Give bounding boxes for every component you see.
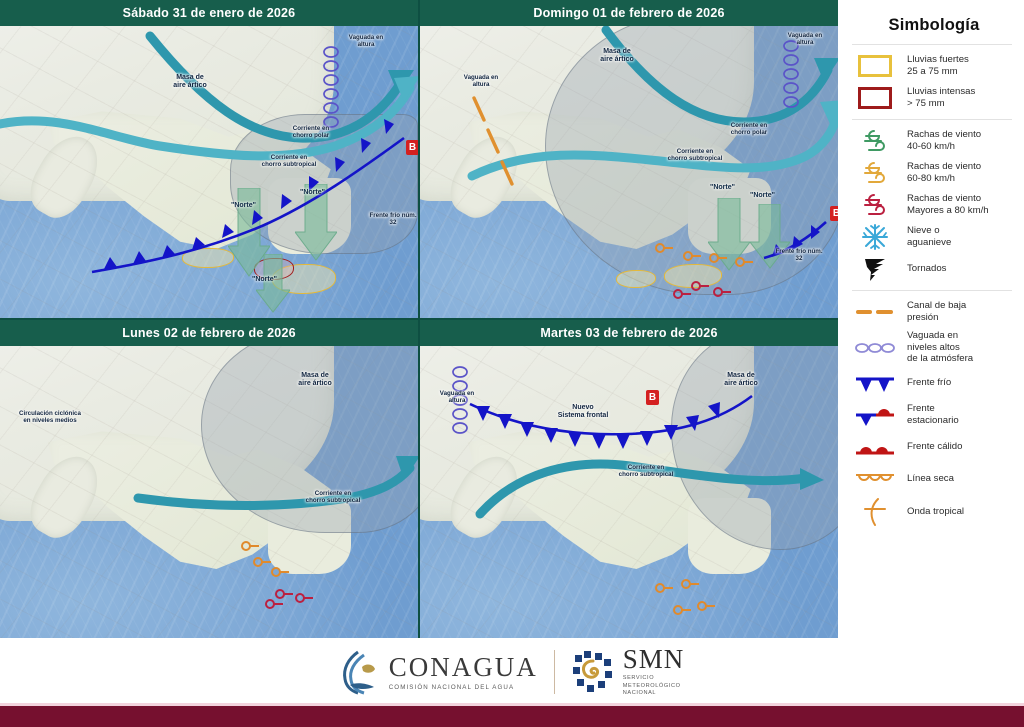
map-panel-domingo[interactable]: Domingo 01 de febrero de 2026 [420,0,838,318]
label-norte-1: "Norte" [710,184,735,191]
label-norte-2: "Norte" [750,192,775,199]
legend-item-rachas-40-60[interactable]: Rachas de viento 40-60 km/h [852,125,1016,157]
label-airmass: Masa de aire ártico [706,372,776,388]
label-vaguada: Vaguada en altura [426,390,488,404]
label-jet-polar: Corriente en chorro polar [277,125,345,139]
legend-divider-3 [852,290,1012,291]
label-jet-subtropical: Corriente en chorro subtropical [660,148,730,162]
dry-line-icon [852,471,898,487]
label-norte-1: "Norte" [231,202,256,209]
legend-panel: Simbología Lluvias fuertes 25 a 75 mm Ll… [840,0,1024,638]
low-pressure-marker: B [406,140,418,155]
footer-logos: CONAGUA COMISIÓN NACIONAL DEL AGUA SMN S… [0,638,1024,706]
bottom-brand-bar [0,706,1024,727]
wind-gust-markers [232,536,342,616]
panel-title-domingo: Domingo 01 de febrero de 2026 [420,0,838,26]
legend-divider-2 [852,119,1012,120]
legend-item-lluvias-fuertes[interactable]: Lluvias fuertes 25 a 75 mm [852,50,1016,82]
low-pressure-marker: B [830,206,838,221]
label-jet-subtropical: Corriente en chorro subtropical [296,490,370,504]
legend-item-linea-seca[interactable]: Línea seca [852,463,1016,495]
label-jet-polar: Corriente en chorro polar [714,122,784,136]
legend-item-frente-frio[interactable]: Frente frío [852,367,1016,399]
legend-label: Onda tropical [907,506,964,518]
legend-item-vaguada-niveles-altos[interactable]: Vaguada en niveles altos de la atmósfera [852,328,1016,367]
legend-item-frente-calido[interactable]: Frente cálido [852,431,1016,463]
label-vaguada: Vaguada en altura [333,34,399,48]
label-new-frontal-system: Nuevo Sistema frontal [538,404,628,420]
cold-front-domingo [420,26,838,318]
wind-gust-red-icon [852,191,898,219]
conagua-eagle-icon [340,649,380,695]
legend-label: Frente cálido [907,441,962,453]
smn-name: SMN [623,646,685,673]
legend-label: Nieve o aguanieve [907,225,951,248]
legend-label: Tornados [907,263,946,275]
wind-gust-green-icon [852,127,898,155]
warm-front-icon [852,438,898,456]
legend-label: Rachas de viento 60-80 km/h [907,161,981,184]
rain-box-red-icon [852,87,898,109]
legend-label: Rachas de viento 40-60 km/h [907,129,981,152]
conagua-subtitle: COMISIÓN NACIONAL DEL AGUA [389,684,538,691]
label-jet-subtropical: Corriente en chorro subtropical [254,154,324,168]
conagua-logo: CONAGUA COMISIÓN NACIONAL DEL AGUA [340,649,538,695]
label-airmass: Masa de aire ártico [155,74,225,90]
tornado-icon [852,256,898,282]
legend-item-nieve[interactable]: Nieve o aguanieve [852,221,1016,253]
panel-body-domingo: B Masa de aire ártico Vaguada en altura … [420,26,838,318]
conagua-wordmark: CONAGUA COMISIÓN NACIONAL DEL AGUA [389,654,538,691]
label-vaguada-left: Vaguada en altura [448,74,514,88]
legend-label: Lluvias intensas > 75 mm [907,86,975,109]
legend-label: Frente estacionario [907,403,959,426]
label-cyclonic-circulation: Circulación ciclónica en niveles medios [4,410,96,424]
snowflake-icon [852,224,898,250]
label-front-number: Frente frío núm. 32 [768,248,830,262]
legend-item-rachas-60-80[interactable]: Rachas de viento 60-80 km/h [852,157,1016,189]
panel-body-martes: B Masa de aire ártico Vaguada en altura … [420,346,838,638]
legend-divider-1 [852,44,1012,45]
label-airmass: Masa de aire ártico [582,48,652,64]
panel-body-lunes: B [0,346,418,638]
smn-spiral-icon [571,649,615,695]
panel-title-martes: Martes 03 de febrero de 2026 [420,320,838,346]
label-norte-2: "Norte" [300,189,325,196]
legend-label: Frente frío [907,377,951,389]
label-front-number: Frente frío núm. 32 [362,212,418,226]
stationary-front-icon [852,404,898,426]
map-panel-lunes[interactable]: Lunes 02 de febrero de 2026 B [0,320,418,638]
legend-item-rachas-mayores-80[interactable]: Rachas de viento Mayores a 80 km/h [852,189,1016,221]
label-norte-3: "Norte" [252,276,277,283]
label-airmass: Masa de aire ártico [280,372,350,388]
legend-item-tornados[interactable]: Tornados [852,253,1016,285]
legend-label: Vaguada en niveles altos de la atmósfera [907,330,973,365]
low-pressure-marker: B [646,390,659,405]
legend-title: Simbología [852,16,1016,35]
legend-item-onda-tropical[interactable]: Onda tropical [852,495,1016,529]
smn-wordmark: SMN SERVICIO METEOROLÓGICO NACIONAL [623,646,685,698]
legend-label: Canal de baja presión [907,300,966,323]
label-vaguada-right: Vaguada en altura [772,32,838,46]
legend-label: Lluvias fuertes 25 a 75 mm [907,54,969,77]
legend-item-lluvias-intensas[interactable]: Lluvias intensas > 75 mm [852,82,1016,114]
footer-divider [554,650,555,694]
cold-front-sabado [0,26,418,318]
cold-front-icon [852,373,898,393]
trough-chain-icon [852,341,898,355]
dashed-line-icon [852,307,898,317]
smn-logo: SMN SERVICIO METEOROLÓGICO NACIONAL [571,646,685,698]
smn-subtitle: SERVICIO METEOROLÓGICO NACIONAL [623,675,685,698]
legend-item-canal-baja-presion[interactable]: Canal de baja presión [852,296,1016,328]
label-jet-subtropical: Corriente en chorro subtropical [608,464,684,478]
map-panel-grid: Sábado 31 de enero de 2026 [0,0,838,638]
weather-forecast-page: Sábado 31 de enero de 2026 [0,0,1024,727]
rain-box-yellow-icon [852,55,898,77]
map-panel-martes[interactable]: Martes 03 de febrero de 2026 [420,320,838,638]
legend-label: Rachas de viento Mayores a 80 km/h [907,193,989,216]
tropical-wave-icon [852,497,898,527]
legend-item-frente-estacionario[interactable]: Frente estacionario [852,399,1016,431]
panel-title-lunes: Lunes 02 de febrero de 2026 [0,320,418,346]
panel-body-sabado: B Masa de aire ártico Vaguada en altura … [0,26,418,318]
conagua-name: CONAGUA [389,654,538,681]
legend-label: Línea seca [907,473,954,485]
panel-title-sabado: Sábado 31 de enero de 2026 [0,0,418,26]
map-panel-sabado[interactable]: Sábado 31 de enero de 2026 [0,0,418,318]
wind-gust-orange-icon [852,159,898,187]
